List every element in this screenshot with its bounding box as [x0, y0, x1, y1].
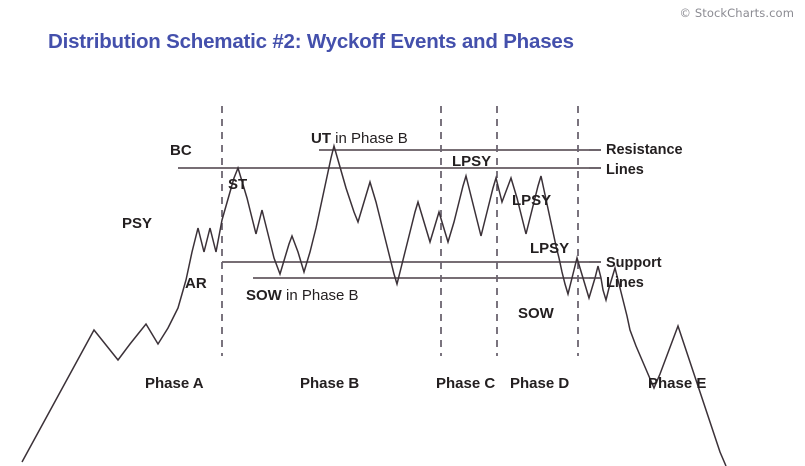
page-title: Distribution Schematic #2: Wyckoff Event…: [48, 30, 574, 54]
event-label-lpsy-2: LPSY: [512, 192, 551, 209]
event-code: LPSY: [530, 240, 569, 257]
phase-a-label: Phase A: [145, 375, 204, 392]
event-label-sow-phase-d: SOW: [518, 305, 555, 322]
event-code: LPSY: [452, 153, 491, 170]
event-labels-group: PSYBCARSTUT in Phase BSOW in Phase BLPSY…: [122, 130, 569, 322]
support-lines-annotation-row-1: Lines: [606, 275, 644, 291]
phase-labels-group: Phase APhase BPhase CPhase DPhase E: [145, 375, 706, 392]
event-qualifier: in Phase B: [282, 287, 359, 304]
phase-b-label: Phase B: [300, 375, 359, 392]
event-label-ut-phase-b: UT in Phase B: [311, 130, 408, 147]
level-lines-group: [178, 150, 589, 278]
price-line-group: [22, 146, 726, 466]
event-label-lpsy-1: LPSY: [452, 153, 491, 170]
event-code: SOW: [246, 287, 283, 304]
event-label-sow-phase-b: SOW in Phase B: [246, 287, 359, 304]
event-label-st: ST: [228, 176, 247, 193]
stockcharts-credit: © StockCharts.com: [680, 6, 795, 20]
event-code: UT: [311, 130, 331, 147]
line-annotations-group: ResistanceLinesSupportLines: [589, 142, 683, 291]
event-code: PSY: [122, 215, 152, 232]
schematic-canvas: PSYBCARSTUT in Phase BSOW in Phase BLPSY…: [0, 0, 805, 466]
event-label-ar: AR: [185, 275, 207, 292]
event-label-psy: PSY: [122, 215, 152, 232]
event-label-bc: BC: [170, 142, 192, 159]
event-code: BC: [170, 142, 192, 159]
phase-d-label: Phase D: [510, 375, 569, 392]
event-qualifier: in Phase B: [331, 130, 408, 147]
phase-c-label: Phase C: [436, 375, 495, 392]
resistance-lines-annotation-row-0: Resistance: [606, 142, 683, 158]
event-label-lpsy-3: LPSY: [530, 240, 569, 257]
phase-e-label: Phase E: [648, 375, 706, 392]
event-code: SOW: [518, 305, 555, 322]
event-code: ST: [228, 176, 247, 193]
resistance-lines-annotation-row-1: Lines: [606, 162, 644, 178]
event-code: AR: [185, 275, 207, 292]
support-lines-annotation-row-0: Support: [606, 255, 662, 271]
price-line-price: [22, 146, 726, 466]
wyckoff-distribution-schematic: © StockCharts.com Distribution Schematic…: [0, 0, 805, 466]
event-code: LPSY: [512, 192, 551, 209]
